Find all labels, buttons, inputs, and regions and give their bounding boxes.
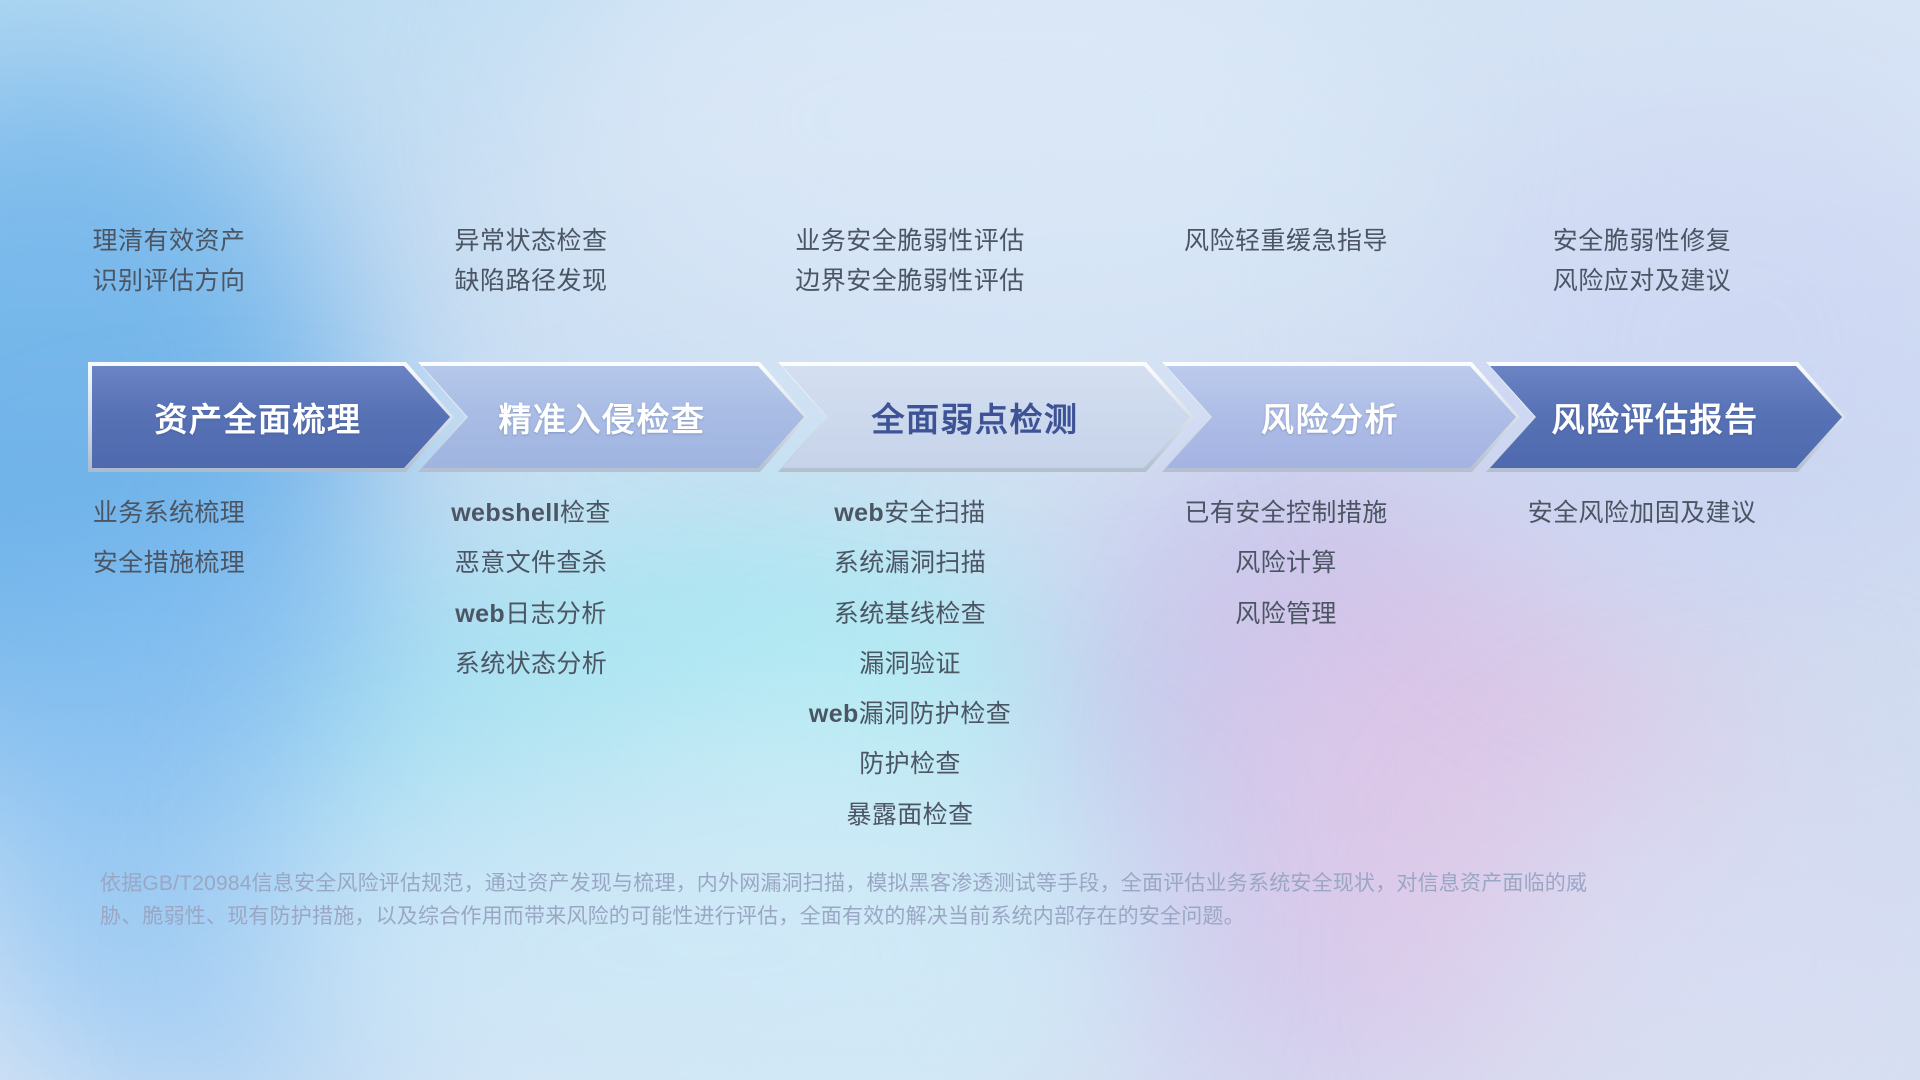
stage-chevron-risk-analysis[interactable]: 风险分析: [1166, 366, 1516, 468]
bottom-label-item: 风险管理: [1235, 601, 1337, 627]
stage-chevron-intrusion-check[interactable]: 精准入侵检查: [422, 366, 804, 468]
top-label-row: 理清有效资产 识别评估方向 异常状态检查 缺陷路径发现 业务安全脆弱性评估 边界…: [0, 228, 1920, 338]
bottom-label-item: 安全风险加固及建议: [1528, 500, 1757, 526]
top-label-item: 安全脆弱性修复: [1553, 228, 1732, 254]
bottom-labels-intrusion-check: webshell检查恶意文件查杀web日志分析系统状态分析: [360, 500, 702, 677]
stage-chevron-risk-report[interactable]: 风险评估报告: [1490, 366, 1842, 468]
bottom-label-item: 系统状态分析: [455, 651, 607, 677]
bottom-label-item: 防护检查: [859, 751, 961, 777]
bottom-label-row: 业务系统梳理安全措施梳理 webshell检查恶意文件查杀web日志分析系统状态…: [0, 500, 1920, 828]
stage-title: 全面弱点检测: [872, 393, 1101, 441]
bottom-label-item: webshell检查: [451, 500, 611, 526]
bottom-labels-asset-inventory: 业务系统梳理安全措施梳理: [0, 500, 338, 577]
bottom-label-item: 系统基线检查: [834, 601, 986, 627]
process-flow-diagram: 理清有效资产 识别评估方向 异常状态检查 缺陷路径发现 业务安全脆弱性评估 边界…: [0, 0, 1920, 1080]
bottom-labels-risk-report: 安全风险加固及建议: [1468, 500, 1816, 526]
bottom-label-item: 风险计算: [1235, 550, 1337, 576]
top-label-item: 风险应对及建议: [1553, 268, 1732, 294]
top-label-item: 异常状态检查: [454, 228, 607, 254]
top-labels-risk-analysis: 风险轻重缓急指导: [1118, 228, 1454, 338]
bottom-label-item: 恶意文件查杀: [455, 550, 607, 576]
top-labels-risk-report: 安全脆弱性修复 风险应对及建议: [1468, 228, 1816, 338]
top-labels-intrusion-check: 异常状态检查 缺陷路径发现: [360, 228, 702, 338]
stage-title: 风险评估报告: [1552, 393, 1781, 441]
top-label-item: 缺陷路径发现: [454, 268, 607, 294]
bottom-label-item: 已有安全控制措施: [1184, 500, 1387, 526]
footer-description: 依据GB/T20984信息安全风险评估规范，通过资产发现与梳理，内外网漏洞扫描，…: [100, 868, 1620, 933]
top-label-item: 理清有效资产: [92, 228, 245, 254]
bottom-label-item: 暴露面检查: [846, 802, 973, 828]
top-label-item: 业务安全脆弱性评估: [795, 228, 1025, 254]
top-label-item: 边界安全脆弱性评估: [795, 268, 1025, 294]
top-labels-asset-inventory: 理清有效资产 识别评估方向: [0, 228, 338, 338]
bottom-label-item: 系统漏洞扫描: [834, 550, 986, 576]
bottom-labels-weakness-detection: web安全扫描系统漏洞扫描系统基线检查漏洞验证web漏洞防护检查防护检查暴露面检…: [716, 500, 1104, 828]
bottom-label-item: web日志分析: [455, 601, 606, 627]
bottom-label-item: web安全扫描: [834, 500, 985, 526]
stage-title: 资产全面梳理: [151, 393, 392, 441]
stage-title: 风险分析: [1261, 393, 1421, 441]
bottom-label-item: 业务系统梳理: [93, 500, 245, 526]
stage-chevron-banner: 资产全面梳理 精准入侵检查 全面弱点检测 风险分析 风险评估报告: [92, 366, 1842, 468]
stage-chevron-asset-inventory[interactable]: 资产全面梳理: [92, 366, 450, 468]
top-label-item: 识别评估方向: [92, 268, 245, 294]
bottom-label-item: 漏洞验证: [859, 651, 961, 677]
top-label-item: 风险轻重缓急指导: [1184, 228, 1388, 254]
top-labels-weakness-detection: 业务安全脆弱性评估 边界安全脆弱性评估: [716, 228, 1104, 338]
bottom-label-item: 安全措施梳理: [93, 550, 245, 576]
stage-title: 精准入侵检查: [499, 393, 728, 441]
bottom-labels-risk-analysis: 已有安全控制措施风险计算风险管理: [1118, 500, 1454, 627]
stage-chevron-weakness-detection[interactable]: 全面弱点检测: [782, 366, 1190, 468]
bottom-label-item: web漏洞防护检查: [809, 701, 1011, 727]
